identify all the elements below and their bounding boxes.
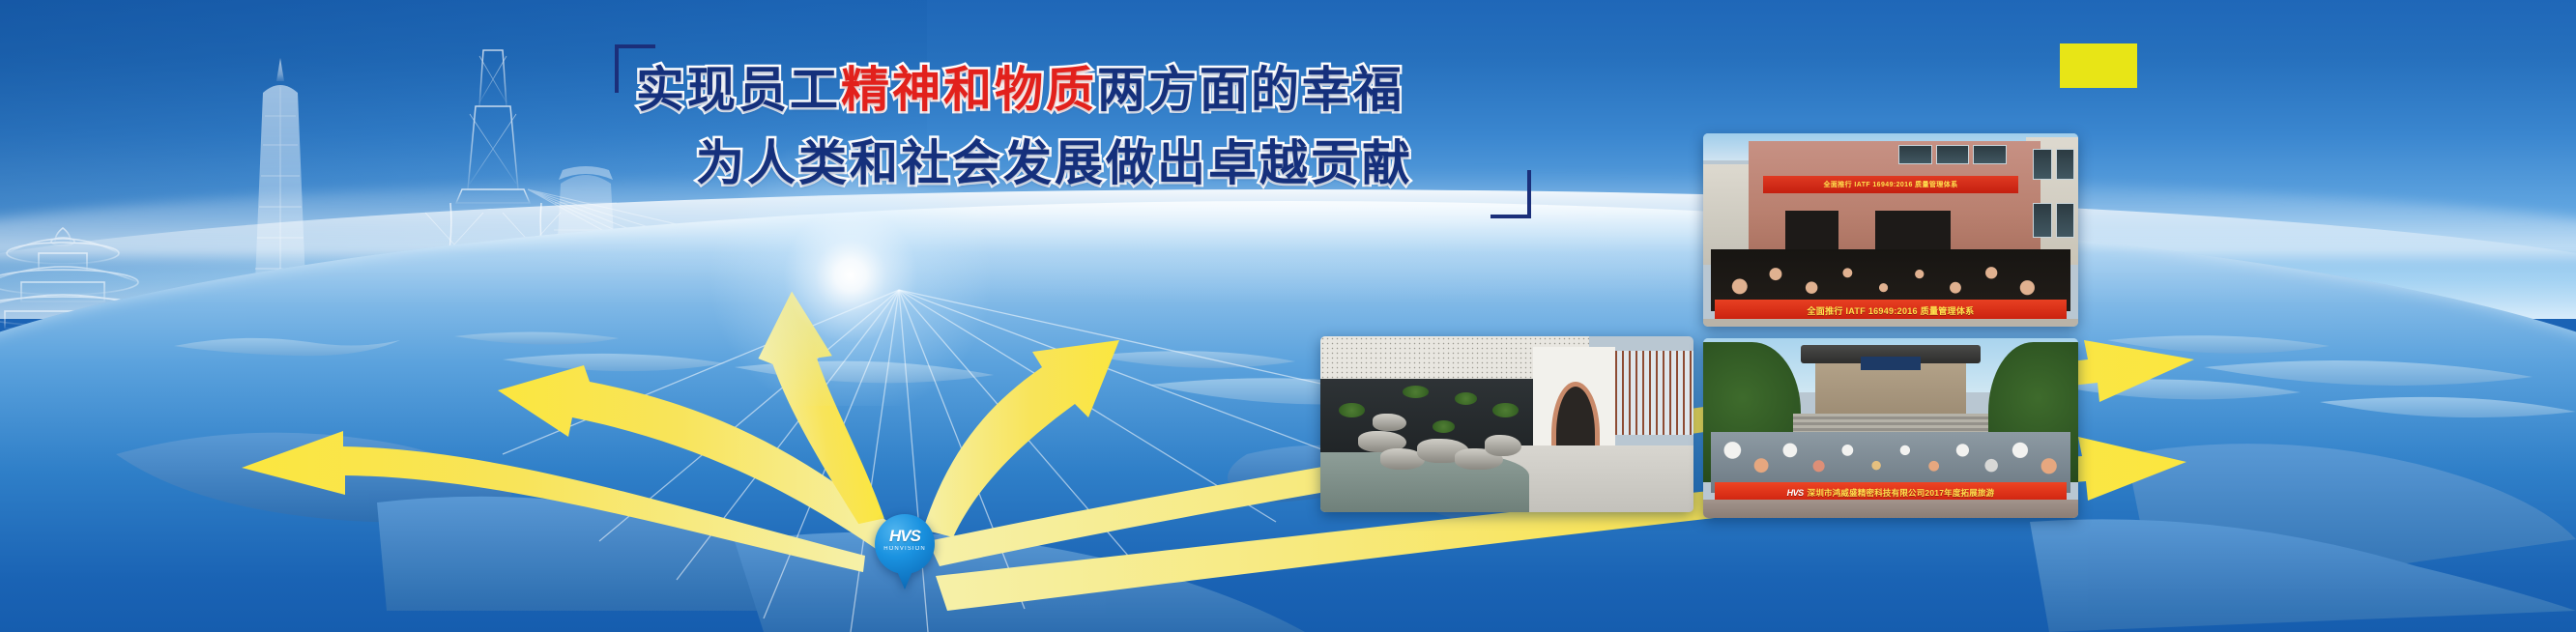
garden-potted-plant bbox=[1339, 403, 1365, 417]
factory-window bbox=[1936, 145, 1970, 164]
factory-ground bbox=[1703, 319, 2078, 327]
factory-window bbox=[2033, 203, 2051, 238]
honvision-wordmark: HONVISION bbox=[875, 546, 935, 552]
trip-ground bbox=[1703, 500, 2078, 518]
globe-ocean bbox=[0, 201, 2576, 632]
factory-window bbox=[1898, 145, 1932, 164]
trip-banner-text: 深圳市鸿威盛精密科技有限公司2017年度拓展旅游 bbox=[1808, 487, 1995, 499]
slogan-l2-text: 为人类和社会发展做出卓越贡献 bbox=[696, 135, 1413, 191]
iatf-photo-content: 全面推行 IATF 16949:2016 质量管理体系 全面推行 IATF 16… bbox=[1703, 133, 2078, 327]
slogan-line-2: 为人类和社会发展做出卓越贡献 bbox=[696, 139, 1413, 187]
garden-rockery bbox=[1373, 414, 1406, 431]
slogan-l1-seg1: 实现员工 bbox=[636, 62, 841, 118]
photo-company-garden-courtyard[interactable] bbox=[1320, 336, 1693, 512]
garden-potted-plant bbox=[1403, 386, 1429, 398]
factory-window bbox=[1973, 145, 2007, 164]
garden-photo-content bbox=[1320, 336, 1693, 512]
garden-potted-plant bbox=[1492, 403, 1519, 417]
garden-pergola bbox=[1615, 351, 1693, 435]
garden-potted-plant bbox=[1455, 392, 1477, 405]
honvision-location-pin[interactable]: HVS HONVISION bbox=[875, 514, 935, 589]
pin-logo: HVS HONVISION bbox=[875, 528, 935, 552]
trip-photo-content: HVS深圳市鸿威盛精密科技有限公司2017年度拓展旅游 bbox=[1703, 338, 2078, 518]
factory-front-banner: 全面推行 IATF 16949:2016 质量管理体系 bbox=[1715, 300, 2068, 321]
factory-window bbox=[2056, 149, 2074, 180]
slogan-block: 实现员工精神和物质两方面的幸福 为人类和社会发展做出卓越贡献 bbox=[615, 44, 1543, 228]
photo-iatf-certification-group[interactable]: 全面推行 IATF 16949:2016 质量管理体系 全面推行 IATF 16… bbox=[1703, 133, 2078, 327]
bracket-bottom-right-icon bbox=[1491, 170, 1531, 218]
garden-potted-plant bbox=[1433, 420, 1455, 433]
yellow-accent-block bbox=[2060, 43, 2137, 88]
trip-gate-plaque bbox=[1861, 357, 1921, 371]
factory-wall-banner: 全面推行 IATF 16949:2016 质量管理体系 bbox=[1763, 176, 2018, 193]
photo-annual-outdoor-trip[interactable]: HVS深圳市鸿威盛精密科技有限公司2017年度拓展旅游 bbox=[1703, 338, 2078, 518]
corporate-culture-banner: HVS HONVISION 实现员工精神和物质两方面的幸福 为人类和社会发展做出… bbox=[0, 0, 2576, 632]
garden-rockery bbox=[1485, 435, 1522, 456]
slogan-l1-highlight: 精神和物质 bbox=[841, 62, 1097, 118]
factory-window bbox=[2056, 203, 2074, 238]
trip-banner-logo: HVS bbox=[1787, 488, 1804, 498]
slogan-l1-seg3: 两方面的幸福 bbox=[1097, 62, 1404, 118]
slogan-line-1: 实现员工精神和物质两方面的幸福 bbox=[636, 66, 1404, 114]
hvs-mark: HVS bbox=[875, 528, 935, 544]
factory-window bbox=[2033, 149, 2051, 180]
